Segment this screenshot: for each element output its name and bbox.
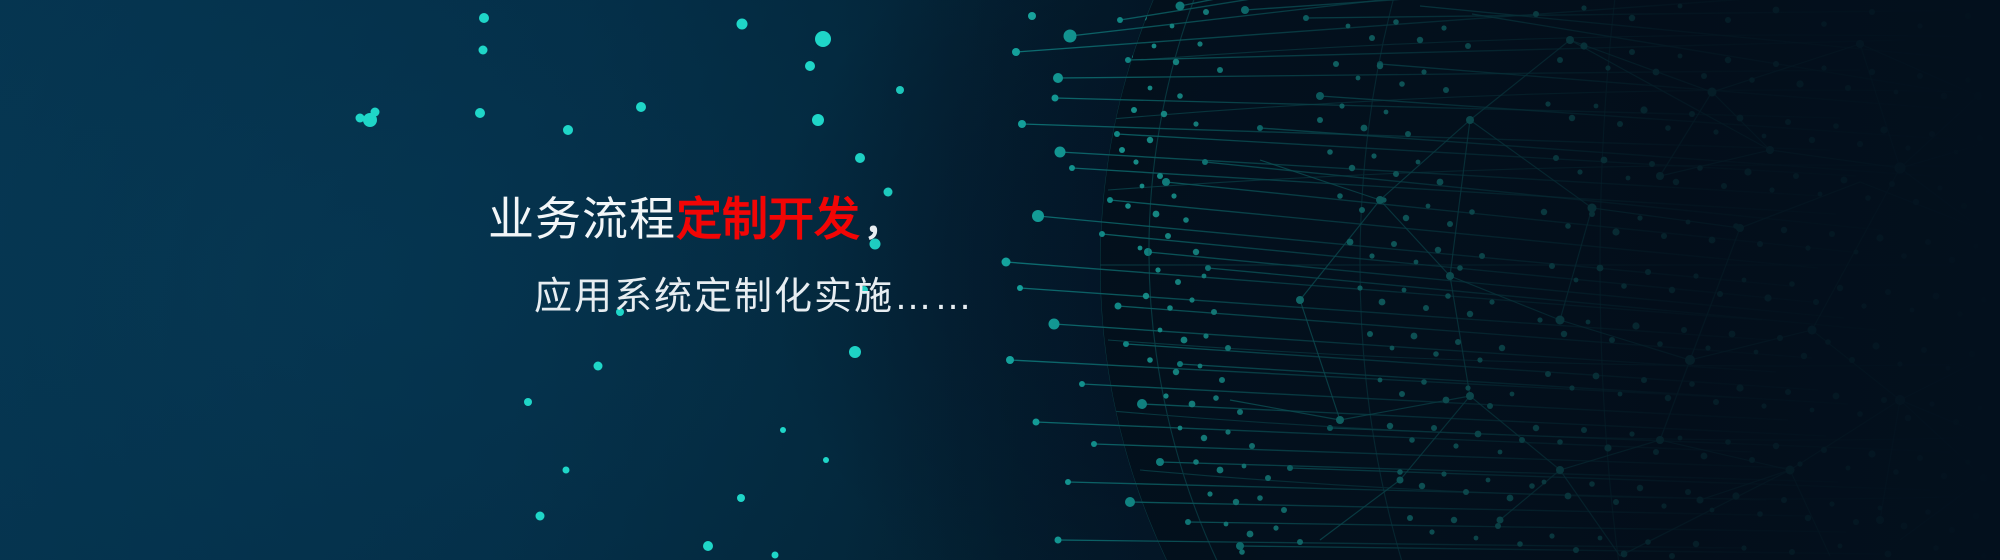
- headline-line-2: 应用系统定制化实施……: [488, 278, 974, 316]
- headline-emphasis-text: 定制开发: [676, 193, 860, 245]
- headline-punctuation: ，: [860, 202, 903, 244]
- headline-plain-text: 业务流程: [488, 193, 676, 245]
- headline-block: 业务流程定制开发， 应用系统定制化实施……: [488, 196, 974, 316]
- hero-banner: 业务流程定制开发， 应用系统定制化实施……: [0, 0, 2000, 560]
- headline-line-1: 业务流程定制开发，: [488, 196, 974, 242]
- right-darkening-overlay: [840, 0, 2000, 560]
